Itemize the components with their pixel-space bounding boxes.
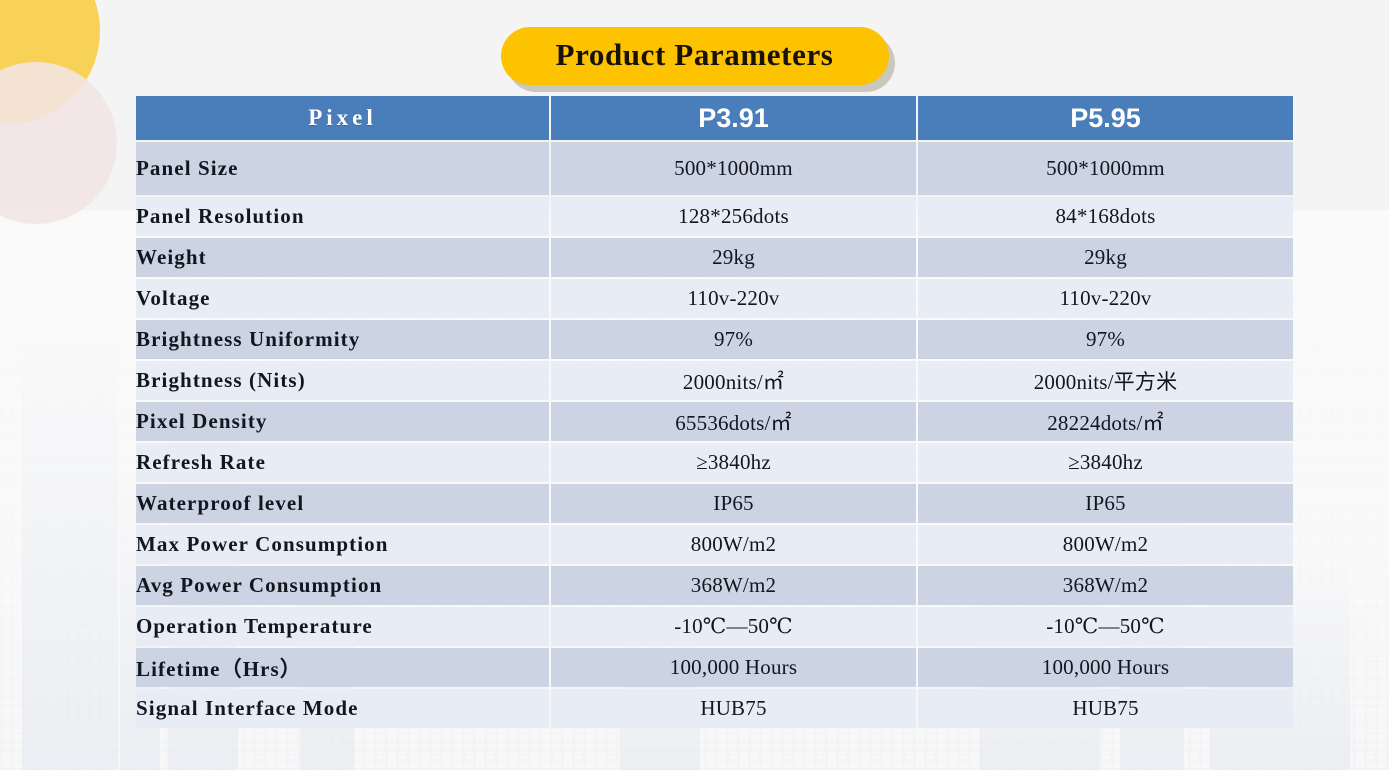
parameter-value-p595: HUB75	[918, 689, 1293, 728]
title-banner: Product Parameters	[0, 27, 1389, 85]
parameter-label: Panel Size	[136, 142, 549, 195]
table-row: Avg Power Consumption368W/m2368W/m2	[136, 566, 1293, 605]
table-row: Waterproof levelIP65IP65	[136, 484, 1293, 523]
table-row: Lifetime（Hrs）100,000 Hours100,000 Hours	[136, 648, 1293, 687]
table-body: Panel Size500*1000mm500*1000mmPanel Reso…	[136, 142, 1293, 728]
table-row: Refresh Rate≥3840hz≥3840hz	[136, 443, 1293, 482]
parameter-label: Brightness Uniformity	[136, 320, 549, 359]
parameter-label: Brightness (Nits)	[136, 361, 549, 400]
parameter-value-p391: 128*256dots	[551, 197, 916, 236]
parameter-value-p391: ≥3840hz	[551, 443, 916, 482]
table-row: Signal Interface ModeHUB75HUB75	[136, 689, 1293, 728]
parameter-label: Panel Resolution	[136, 197, 549, 236]
parameter-value-p391: 110v-220v	[551, 279, 916, 318]
parameter-value-p391: HUB75	[551, 689, 916, 728]
table-row: Weight29kg29kg	[136, 238, 1293, 277]
decorative-pink-circle	[0, 62, 117, 224]
table-row: Brightness (Nits)2000nits/㎡2000nits/平方米	[136, 361, 1293, 400]
parameter-value-p595: 84*168dots	[918, 197, 1293, 236]
parameter-value-p595: 800W/m2	[918, 525, 1293, 564]
parameter-value-p391: 100,000 Hours	[551, 648, 916, 687]
parameter-label: Avg Power Consumption	[136, 566, 549, 605]
parameter-label: Waterproof level	[136, 484, 549, 523]
parameter-label: Refresh Rate	[136, 443, 549, 482]
parameter-value-p391: 500*1000mm	[551, 142, 916, 195]
parameter-value-p595: -10℃—50℃	[918, 607, 1293, 646]
table-row: Panel Size500*1000mm500*1000mm	[136, 142, 1293, 195]
parameter-value-p391: -10℃—50℃	[551, 607, 916, 646]
parameter-value-p595: IP65	[918, 484, 1293, 523]
column-header-p595: P5.95	[918, 96, 1293, 140]
parameter-value-p595: 97%	[918, 320, 1293, 359]
parameter-value-p595: 2000nits/平方米	[918, 361, 1293, 400]
parameter-value-p391: 2000nits/㎡	[551, 361, 916, 400]
parameter-value-p391: 29kg	[551, 238, 916, 277]
slide-canvas: Product Parameters Pixel P3.91 P5.9	[0, 0, 1389, 770]
parameter-label: Signal Interface Mode	[136, 689, 549, 728]
parameter-label: Max Power Consumption	[136, 525, 549, 564]
table-row: Panel Resolution128*256dots84*168dots	[136, 197, 1293, 236]
column-header-pixel: Pixel	[136, 96, 549, 140]
table-row: Pixel Density65536dots/㎡28224dots/㎡	[136, 402, 1293, 441]
parameter-value-p391: IP65	[551, 484, 916, 523]
product-parameters-table: Pixel P3.91 P5.95 Panel Size500*1000mm50…	[136, 96, 1287, 728]
page-title: Product Parameters	[556, 37, 834, 72]
parameter-label: Voltage	[136, 279, 549, 318]
table-row: Brightness Uniformity97%97%	[136, 320, 1293, 359]
table-row: Operation Temperature-10℃—50℃-10℃—50℃	[136, 607, 1293, 646]
parameter-value-p595: 29kg	[918, 238, 1293, 277]
parameter-value-p595: 28224dots/㎡	[918, 402, 1293, 441]
parameter-value-p391: 97%	[551, 320, 916, 359]
parameter-value-p595: 110v-220v	[918, 279, 1293, 318]
table-header-row: Pixel P3.91 P5.95	[136, 96, 1293, 140]
table-row: Voltage110v-220v110v-220v	[136, 279, 1293, 318]
skyline-building	[22, 340, 118, 770]
parameter-label: Lifetime（Hrs）	[136, 648, 549, 687]
parameter-value-p595: 100,000 Hours	[918, 648, 1293, 687]
parameter-value-p595: 368W/m2	[918, 566, 1293, 605]
parameter-label: Weight	[136, 238, 549, 277]
parameter-label: Operation Temperature	[136, 607, 549, 646]
parameter-value-p595: 500*1000mm	[918, 142, 1293, 195]
parameter-value-p391: 368W/m2	[551, 566, 916, 605]
title-pill: Product Parameters	[501, 27, 889, 85]
table-row: Max Power Consumption800W/m2800W/m2	[136, 525, 1293, 564]
parameter-value-p391: 800W/m2	[551, 525, 916, 564]
parameter-value-p595: ≥3840hz	[918, 443, 1293, 482]
column-header-p391: P3.91	[551, 96, 916, 140]
parameter-label: Pixel Density	[136, 402, 549, 441]
parameter-value-p391: 65536dots/㎡	[551, 402, 916, 441]
